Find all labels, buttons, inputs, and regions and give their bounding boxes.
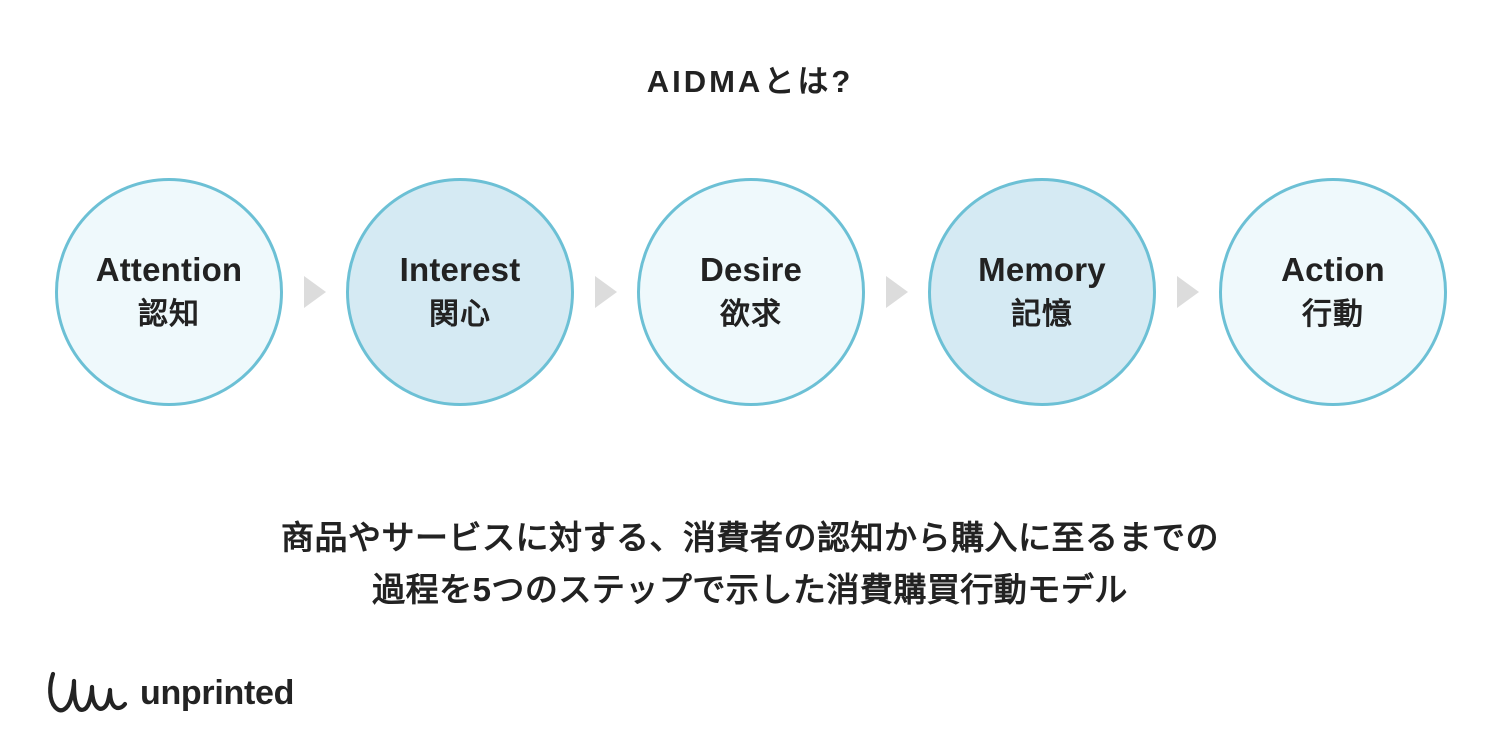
step-label-en: Attention bbox=[96, 251, 243, 289]
step-label-en: Desire bbox=[700, 251, 802, 289]
step-label-en: Action bbox=[1281, 251, 1385, 289]
caption-line-2: 過程を5つのステップで示した消費購買行動モデル bbox=[0, 564, 1500, 616]
brand-wordmark: unprinted bbox=[140, 674, 294, 713]
brand-logo: unprinted bbox=[46, 666, 294, 720]
step-action: Action 行動 bbox=[1219, 178, 1447, 406]
aidma-flow-diagram: Attention 認知 Interest 関心 Desire 欲求 Memor… bbox=[55, 177, 1447, 407]
arrow-right-icon bbox=[304, 276, 326, 308]
step-memory: Memory 記憶 bbox=[928, 178, 1156, 406]
unprinted-script-mark-icon bbox=[46, 666, 128, 720]
step-label-ja: 行動 bbox=[1302, 298, 1364, 333]
arrow-right-icon bbox=[1177, 276, 1199, 308]
step-label-ja: 欲求 bbox=[720, 298, 782, 333]
step-label-ja: 認知 bbox=[138, 298, 200, 333]
step-attention: Attention 認知 bbox=[55, 178, 283, 406]
arrow-right-icon bbox=[886, 276, 908, 308]
caption-line-1: 商品やサービスに対する、消費者の認知から購入に至るまでの bbox=[0, 512, 1500, 564]
step-label-ja: 記憶 bbox=[1011, 298, 1073, 333]
page-title: AIDMAとは? bbox=[0, 56, 1500, 101]
step-desire: Desire 欲求 bbox=[637, 178, 865, 406]
step-interest: Interest 関心 bbox=[346, 178, 574, 406]
caption: 商品やサービスに対する、消費者の認知から購入に至るまでの 過程を5つのステップで… bbox=[0, 512, 1500, 616]
step-label-en: Interest bbox=[400, 251, 521, 289]
arrow-right-icon bbox=[595, 276, 617, 308]
step-label-ja: 関心 bbox=[429, 298, 491, 333]
step-label-en: Memory bbox=[978, 251, 1106, 289]
